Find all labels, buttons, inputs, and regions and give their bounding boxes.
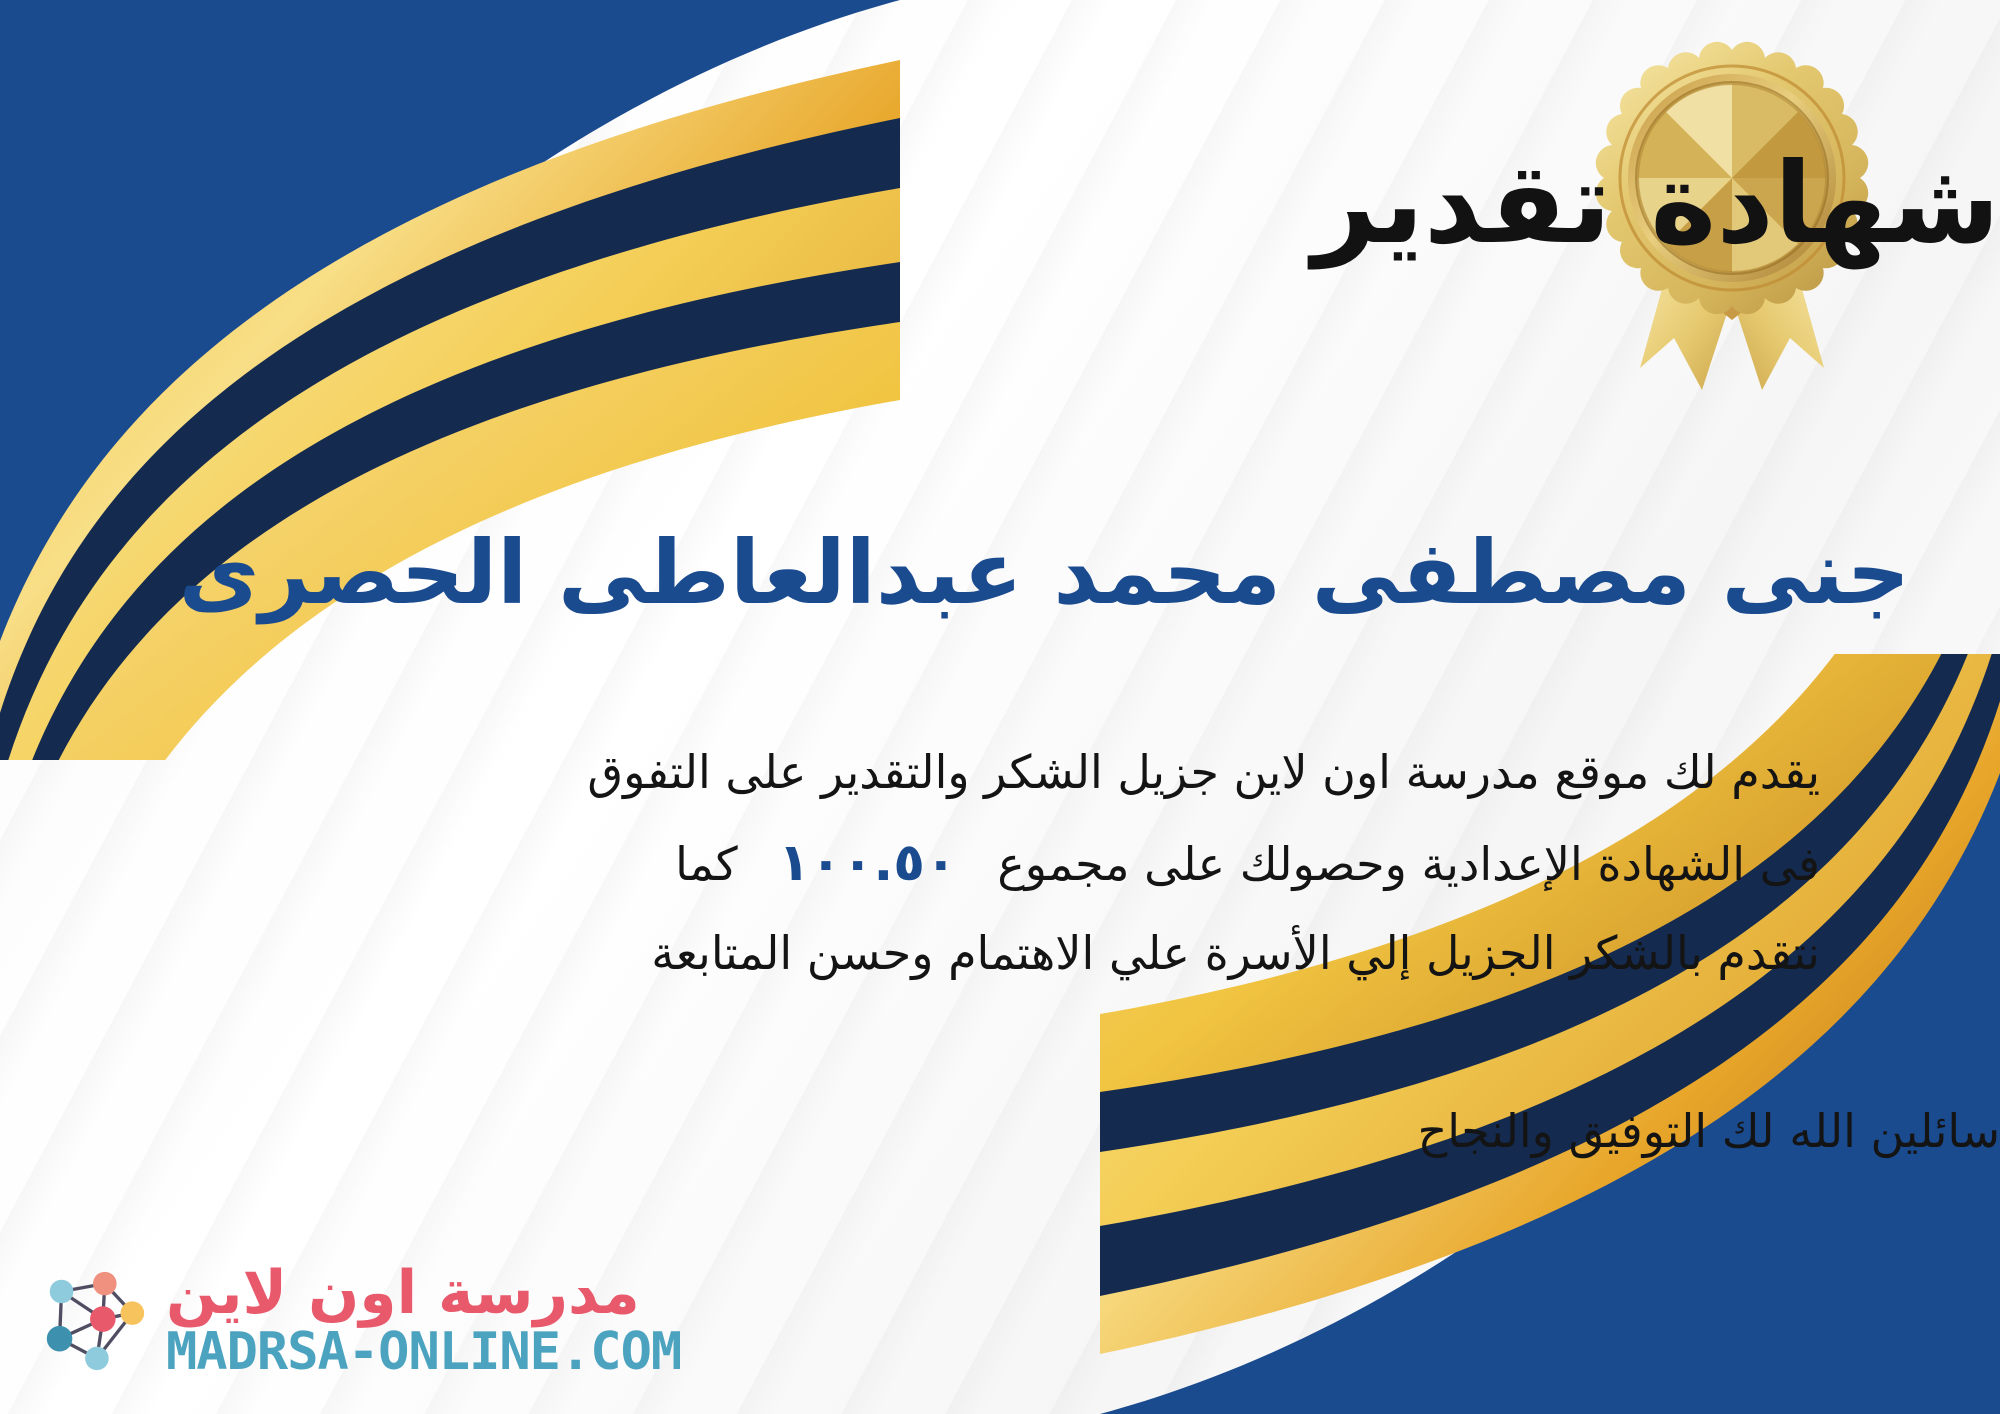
brand-logo[interactable]: مدرسة اون لاين MADRSA-ONLINE.COM [34,1262,681,1380]
corner-ornament-top-left [0,0,900,760]
body-line-2-suffix: كما [675,837,738,891]
brand-name-arabic: مدرسة اون لاين [166,1262,640,1325]
brand-wordmark: مدرسة اون لاين MADRSA-ONLINE.COM [166,1262,681,1380]
grade-total-value: ١٠٠.٥٠ [752,833,982,893]
certificate-title: شهادة تقدير [0,140,2000,269]
body-line-1: يقدم لك موقع مدرسة اون لاين جزيل الشكر و… [180,730,1820,815]
gold-swoosh-2-tl [0,188,900,760]
navy-swoosh-2-tl [0,262,900,760]
body-line-3: نتقدم بالشكر الجزيل إلي الأسرة علي الاهت… [180,911,1820,996]
closing-line: سائلين الله لك التوفيق والنجاح [0,1095,2000,1169]
body-line-2: فى الشهادة الإعدادية وحصولك على مجموع ١٠… [180,815,1820,911]
brand-website-url: MADRSA-ONLINE.COM [166,1325,681,1380]
certificate-canvas: شهادة تقدير جنى مصطفى محمد عبدالعاطى الح… [0,0,2000,1414]
network-nodes-icon [34,1262,152,1380]
certificate-body: يقدم لك موقع مدرسة اون لاين جزيل الشكر و… [0,730,2000,996]
recipient-name: جنى مصطفى محمد عبدالعاطى الحصرى [0,520,2000,626]
corner-blue-block-tl [0,0,900,760]
body-line-2-prefix: فى الشهادة الإعدادية وحصولك على مجموع [997,837,1820,891]
